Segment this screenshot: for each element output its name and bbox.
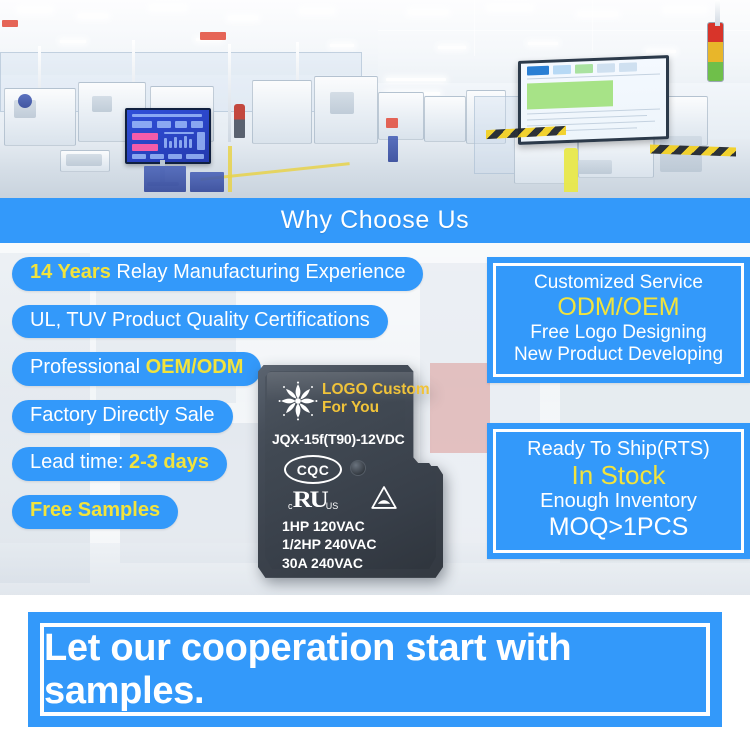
- feature-text: Lead time:: [30, 451, 129, 473]
- relay-product-image: LOGO Custom For You JQX-15f(T90)-12VDC C…: [258, 365, 443, 580]
- ul-certification-mark: c RU US: [288, 487, 338, 513]
- section-title-text: Why Choose Us: [281, 206, 469, 235]
- section-title-banner: Why Choose Us: [0, 198, 750, 243]
- stock-line4: MOQ>1PCS: [504, 513, 733, 542]
- feature-pill-professional-oem[interactable]: Professional OEM/ODM: [12, 352, 261, 386]
- customized-line2: ODM/OEM: [504, 294, 733, 322]
- relay-logo-text: LOGO Custom For You: [322, 381, 430, 417]
- cqc-certification-mark: CQC: [284, 455, 342, 484]
- andon-light-tower: [707, 22, 724, 82]
- ready-to-ship-panel[interactable]: Ready To Ship(RTS) In Stock Enough Inven…: [487, 423, 750, 559]
- feature-text: Relay Manufacturing Experience: [111, 261, 406, 283]
- factory-photo-strip: [0, 0, 750, 198]
- stock-line2: In Stock: [504, 461, 733, 490]
- ul-recognized-icon: RU: [290, 487, 328, 513]
- feature-pill-years-experience[interactable]: 14 Years Relay Manufacturing Experience: [12, 257, 423, 291]
- customized-line4: New Product Developing: [504, 344, 733, 366]
- relay-model-number: JQX-15f(T90)-12VDC: [272, 431, 405, 447]
- flower-logo-icon: [278, 381, 318, 421]
- relay-logo-line1: LOGO Custom: [322, 381, 430, 399]
- feature-pill-certifications[interactable]: UL, TUV Product Quality Certifications: [12, 305, 388, 339]
- relay-rating-3: 30A 240VAC: [282, 554, 376, 572]
- feature-highlight: 14 Years: [30, 261, 111, 283]
- customized-line3: Free Logo Designing: [504, 322, 733, 344]
- feature-pill-factory-direct[interactable]: Factory Directly Sale: [12, 400, 233, 434]
- feature-highlight: OEM/ODM: [146, 356, 244, 378]
- warning-triangle-icon: [370, 485, 398, 510]
- stock-line3: Enough Inventory: [504, 490, 733, 513]
- customized-service-panel[interactable]: Customized Service ODM/OEM Free Logo Des…: [487, 257, 750, 383]
- cta-banner[interactable]: Let our cooperation start with samples.: [28, 612, 722, 727]
- stock-line1: Ready To Ship(RTS): [504, 438, 733, 461]
- relay-logo-line2: For You: [322, 399, 430, 417]
- customized-line1: Customized Service: [504, 272, 733, 294]
- cta-text: Let our cooperation start with samples.: [44, 627, 706, 713]
- factory-photo-right: [378, 0, 750, 198]
- cta-section: Let our cooperation start with samples.: [0, 595, 750, 750]
- relay-test-button: [350, 460, 366, 476]
- factory-photo-left: [0, 0, 378, 198]
- relay-rating-1: 1HP 120VAC: [282, 517, 376, 535]
- feature-pill-lead-time[interactable]: Lead time: 2-3 days: [12, 447, 227, 481]
- promo-page: Why Choose Us 14 Years Relay Manufacturi…: [0, 0, 750, 750]
- feature-highlight: 2-3 days: [129, 451, 209, 473]
- feature-highlight: Free Samples: [30, 499, 160, 521]
- feature-text: Professional: [30, 356, 146, 378]
- features-section: 14 Years Relay Manufacturing Experience …: [0, 243, 750, 595]
- factory-dashboard-monitor: [125, 108, 211, 164]
- feature-text: UL, TUV Product Quality Certifications: [30, 309, 370, 331]
- relay-rating-2: 1/2HP 240VAC: [282, 535, 376, 553]
- relay-ratings: 1HP 120VAC 1/2HP 240VAC 30A 240VAC: [282, 517, 376, 572]
- feature-pill-free-samples[interactable]: Free Samples: [12, 495, 178, 529]
- feature-text: Factory Directly Sale: [30, 404, 215, 426]
